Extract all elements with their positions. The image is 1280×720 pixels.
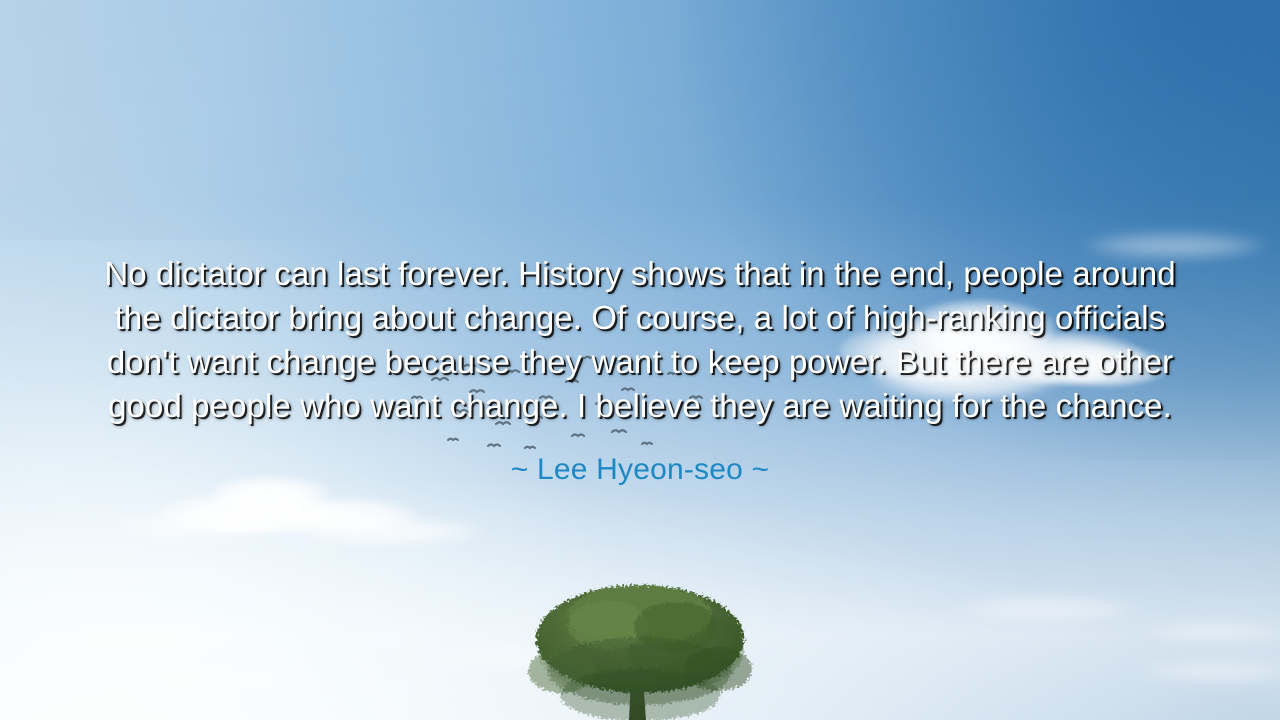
quote-attribution: ~ Lee Hyeon-seo ~ (85, 450, 1195, 490)
quote-text: No dictator can last forever. History sh… (85, 252, 1195, 428)
quote-block: No dictator can last forever. History sh… (85, 252, 1195, 490)
quote-wallpaper: No dictator can last forever. History sh… (0, 0, 1280, 720)
sky-horizon-glow-bottom (0, 480, 1280, 720)
